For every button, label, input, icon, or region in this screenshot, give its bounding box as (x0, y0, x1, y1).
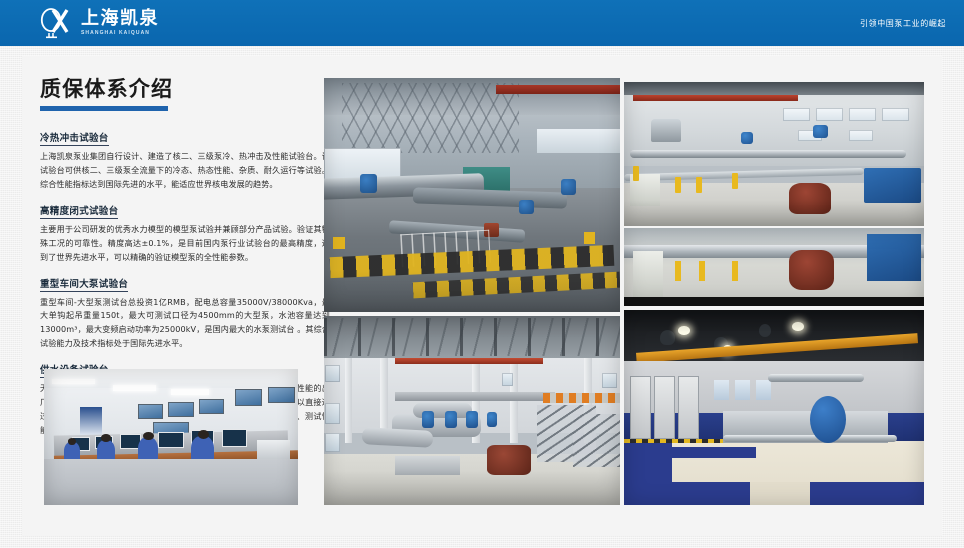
slide-root: 上海凯泉 SHANGHAI KAIQUAN 引领中国泵工业的崛起 质保体系介绍 … (0, 0, 964, 548)
photo-control-room (44, 369, 298, 505)
section-cold-hot-shock: 冷热冲击试验台 上海凯泉泵业集团自行设计、建造了核二、三级泵冷、热冲击及性能试验… (40, 128, 330, 192)
photo-closed-loop-test-rig (624, 82, 924, 226)
page-header: 上海凯泉 SHANGHAI KAIQUAN 引领中国泵工业的崛起 (0, 0, 964, 46)
photo-heavy-workshop-pump-hall (324, 316, 620, 505)
section-body: 上海凯泉泵业集团自行设计、建造了核二、三级泵冷、热冲击及性能试验台。该试验台可供… (40, 150, 330, 192)
section-body: 主要用于公司研发的优秀水力模型的模型泵试验并兼顾部分产品试验。验证其特殊工况的可… (40, 223, 330, 265)
section-heavy-workshop: 重型车间大泵试验台 重型车间-大型泵测试台总投资1亿RMB，配电总容量35000… (40, 274, 330, 352)
title-underline (40, 106, 168, 111)
section-body: 重型车间-大型泵测试台总投资1亿RMB，配电总容量35000V/38000Kva… (40, 296, 330, 352)
section-heading: 冷热冲击试验台 (40, 130, 109, 146)
logo-english-name: SHANGHAI KAIQUAN (81, 31, 159, 36)
photo-water-supply-equipment-lab (624, 310, 924, 505)
section-high-precision-closed: 高精度闭式试验台 主要用于公司研发的优秀水力模型的模型泵试验并兼顾部分产品试验。… (40, 201, 330, 265)
logo-chinese-name: 上海凯泉 (81, 10, 159, 28)
kaiquan-logo-icon (40, 7, 74, 39)
header-slogan: 引领中国泵工业的崛起 (860, 0, 946, 46)
page-title: 质保体系介绍 (40, 78, 330, 101)
company-logo[interactable]: 上海凯泉 SHANGHAI KAIQUAN (40, 7, 159, 39)
logo-text-block: 上海凯泉 SHANGHAI KAIQUAN (81, 10, 159, 36)
photo-pump-motor-detail (624, 228, 924, 306)
photo-cold-hot-shock-test-bench (324, 78, 620, 312)
section-heading: 高精度闭式试验台 (40, 203, 118, 219)
section-heading: 重型车间大泵试验台 (40, 276, 128, 292)
